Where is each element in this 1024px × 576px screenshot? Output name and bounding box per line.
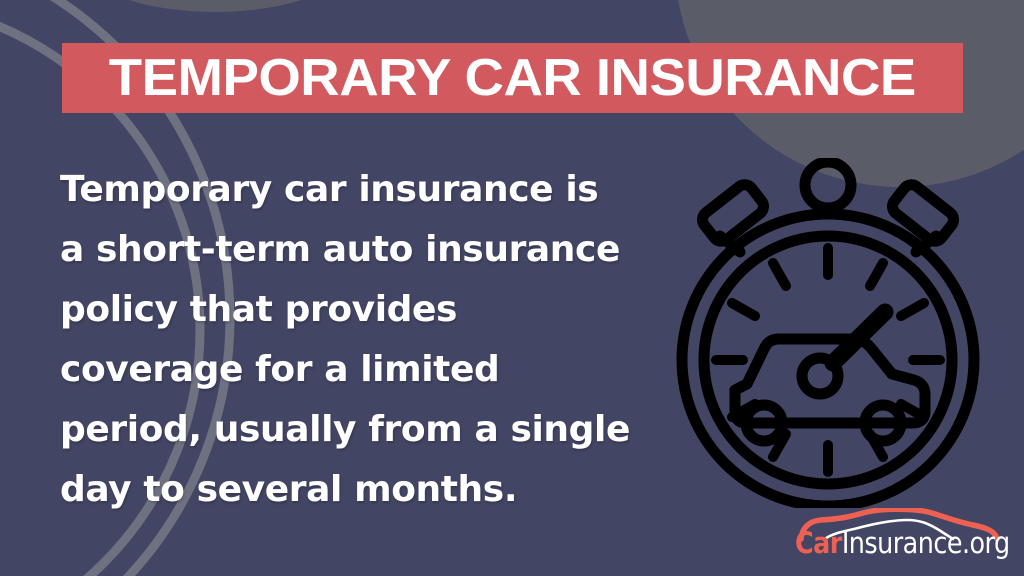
logo-wordmark: CarInsurance.org [795, 526, 984, 560]
logo-word-car: Car [795, 526, 842, 560]
stopwatch-crown-icon [805, 162, 851, 208]
infographic-canvas: TEMPORARY CAR INSURANCE Temporary car in… [0, 0, 1024, 576]
carinsurance-logo[interactable]: CarInsurance.org [795, 508, 1010, 566]
body-line: policy that provides [60, 280, 670, 340]
body-line: day to several months. [60, 460, 670, 520]
stopwatch-with-car-icon [668, 158, 988, 508]
title-banner: TEMPORARY CAR INSURANCE [62, 43, 963, 113]
stopwatch-button-right [889, 181, 957, 252]
body-line: a short-term auto insurance [60, 220, 670, 280]
page-title: TEMPORARY CAR INSURANCE [109, 52, 916, 104]
body-line: coverage for a limited [60, 340, 670, 400]
body-line: Temporary car insurance is [60, 160, 670, 220]
body-line: period, usually from a single [60, 400, 670, 460]
logo-word-insurance-org: Insurance.org [842, 526, 1010, 560]
stopwatch-button-left [699, 181, 767, 252]
body-copy-block: Temporary car insurance is a short-term … [60, 160, 670, 520]
